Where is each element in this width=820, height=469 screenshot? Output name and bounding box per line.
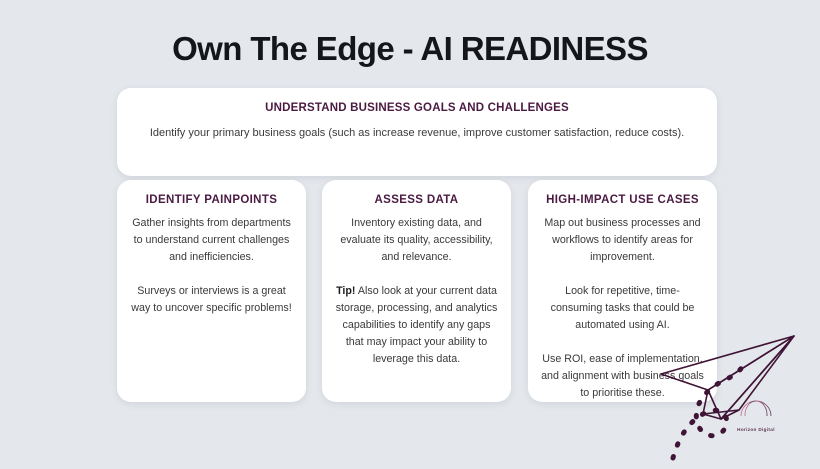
- card-paragraph: Look for repetitive, time-consuming task…: [540, 283, 705, 334]
- card-body: Gather insights from departments to unde…: [131, 215, 292, 317]
- card-tip-paragraph: Tip! Also look at your current data stor…: [334, 283, 499, 368]
- card-heading: UNDERSTAND BUSINESS GOALS AND CHALLENGES: [137, 102, 697, 114]
- card-understand-business-goals: UNDERSTAND BUSINESS GOALS AND CHALLENGES…: [117, 88, 717, 176]
- card-body: Map out business processes and workflows…: [540, 215, 705, 402]
- card-paragraph: Use ROI, ease of implementation, and ali…: [540, 351, 705, 402]
- card-heading: HIGH-IMPACT USE CASES: [540, 194, 705, 206]
- card-paragraph: Map out business processes and workflows…: [540, 215, 705, 266]
- card-assess-data: ASSESS DATA Inventory existing data, and…: [322, 180, 511, 402]
- card-heading: IDENTIFY PAINPOINTS: [131, 194, 292, 206]
- card-paragraph: Inventory existing data, and evaluate it…: [334, 215, 499, 266]
- card-paragraph: Identify your primary business goals (su…: [137, 125, 697, 142]
- tip-label: Tip!: [336, 285, 355, 297]
- card-identify-painpoints: IDENTIFY PAINPOINTS Gather insights from…: [117, 180, 306, 402]
- card-paragraph: Gather insights from departments to unde…: [131, 215, 292, 266]
- card-heading: ASSESS DATA: [334, 194, 499, 206]
- slide-canvas: Own The Edge - AI READINESS UNDERSTAND B…: [0, 0, 820, 464]
- logo-wordmark: Horizon Digital: [729, 427, 783, 432]
- logo-lockup: Horizon Digital: [729, 400, 783, 432]
- tip-text: Also look at your current data storage, …: [336, 285, 498, 365]
- card-body: Identify your primary business goals (su…: [137, 125, 697, 142]
- horizon-dome-logo-icon: [735, 400, 777, 421]
- card-body: Inventory existing data, and evaluate it…: [334, 215, 499, 368]
- page-title: Own The Edge - AI READINESS: [0, 30, 820, 68]
- card-high-impact-use-cases: HIGH-IMPACT USE CASES Map out business p…: [528, 180, 717, 402]
- card-paragraph: Surveys or interviews is a great way to …: [131, 283, 292, 317]
